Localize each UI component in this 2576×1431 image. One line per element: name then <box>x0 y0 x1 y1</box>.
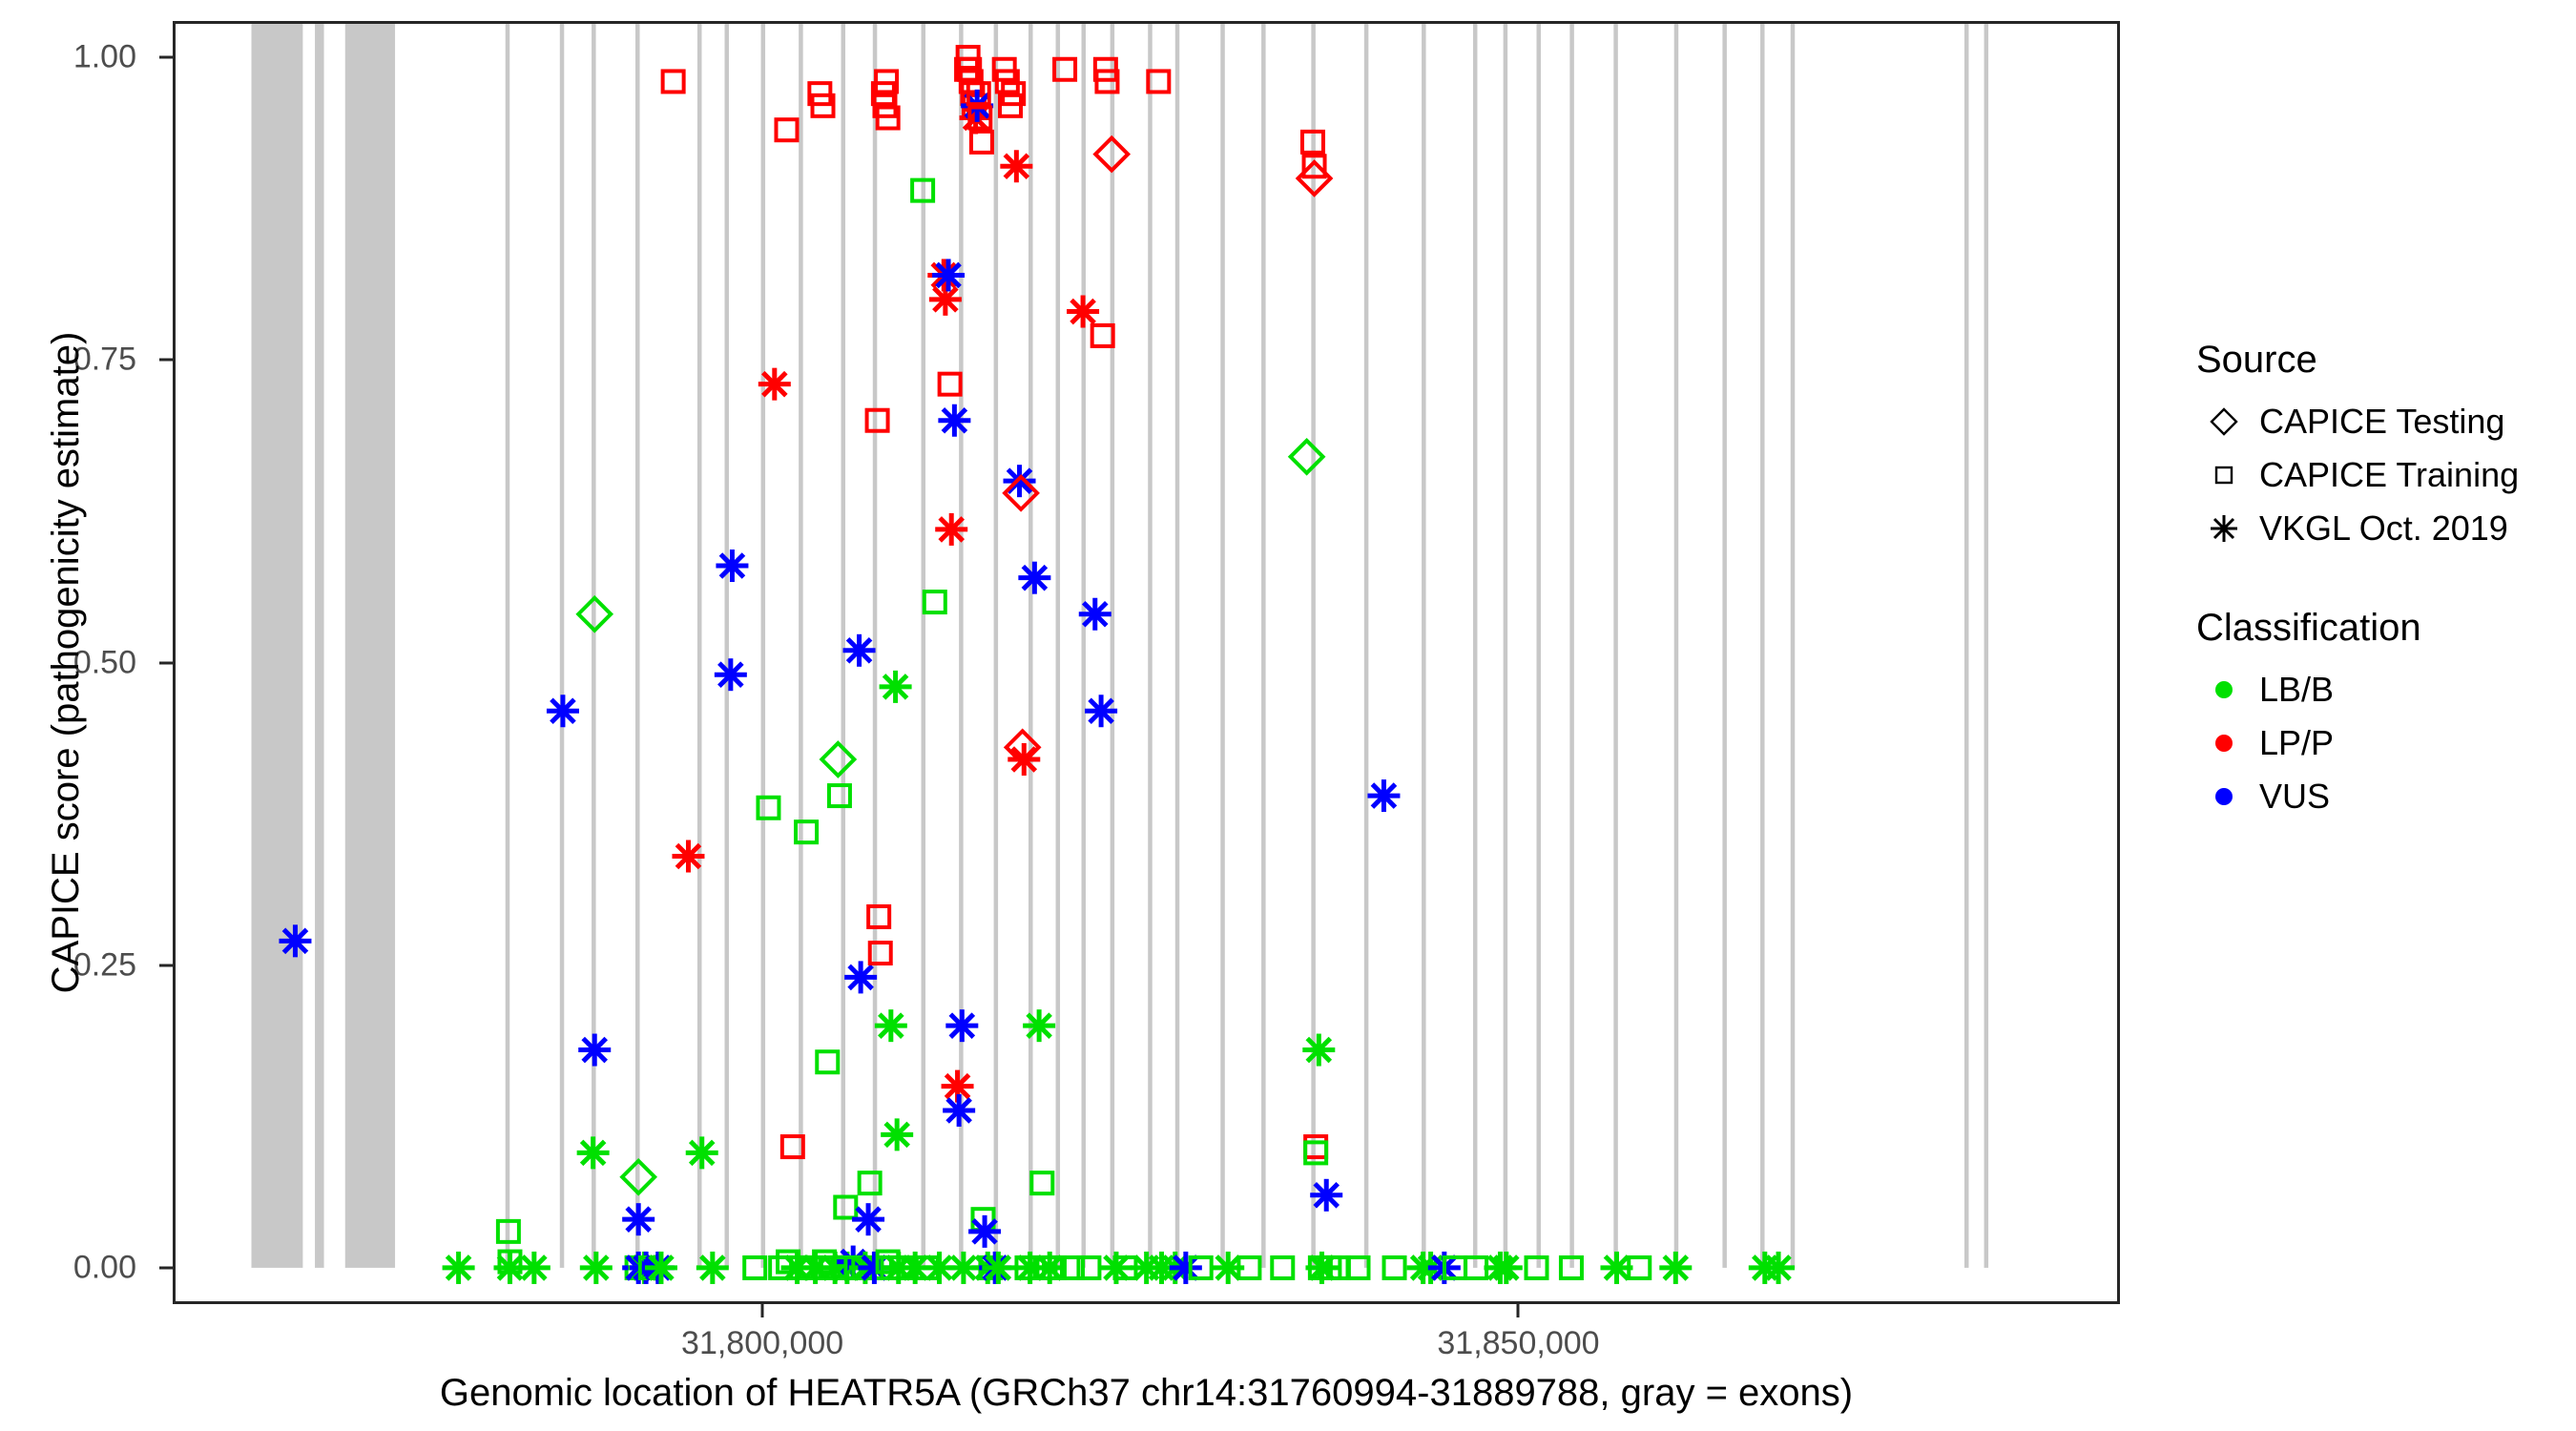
x-tick-label: 31,850,000 <box>1437 1325 1599 1362</box>
exon-bar <box>251 21 302 1268</box>
data-point <box>971 132 992 153</box>
data-point <box>580 1252 613 1284</box>
exon-bar <box>873 21 878 1268</box>
data-point <box>696 1252 729 1284</box>
legend: Source CAPICE Testing CAPICE Training <box>2196 339 2576 875</box>
data-point <box>1384 1257 1405 1278</box>
data-point <box>938 404 970 437</box>
data-point <box>1310 1179 1342 1212</box>
x-tick-mark <box>1517 1304 1520 1317</box>
data-point <box>1305 1142 1326 1163</box>
exon-bar <box>1082 21 1087 1268</box>
data-point <box>867 410 888 431</box>
diamond-icon <box>2196 403 2252 441</box>
data-point <box>835 1196 856 1217</box>
exon-bar <box>592 21 596 1268</box>
exon-bar <box>635 21 640 1268</box>
legend-item-vkgl[interactable]: VKGL Oct. 2019 <box>2196 502 2576 555</box>
exon-bar <box>1473 21 1478 1268</box>
exon-bar <box>725 21 730 1268</box>
legend-label-vus: VUS <box>2259 777 2330 817</box>
data-point <box>982 1252 1014 1284</box>
legend-label-capice-training: CAPICE Training <box>2259 455 2519 495</box>
exon-bar <box>1569 21 1574 1268</box>
legend-group-source: Source CAPICE Testing CAPICE Training <box>2196 339 2576 555</box>
exon-bar <box>1111 21 1115 1268</box>
data-point <box>672 840 704 873</box>
y-tick-mark <box>159 964 173 966</box>
asterisk-icon <box>2196 509 2252 548</box>
data-point <box>547 695 579 727</box>
data-point <box>829 785 850 806</box>
x-tick-label: 31,800,000 <box>681 1325 843 1362</box>
exon-bar <box>1175 21 1180 1268</box>
exon-bar <box>506 21 510 1268</box>
data-point <box>844 961 877 993</box>
data-point <box>686 1136 718 1169</box>
data-point <box>518 1252 551 1284</box>
y-tick-mark <box>159 661 173 664</box>
exon-bar <box>994 21 999 1268</box>
exon-bar <box>1028 21 1033 1268</box>
exon-bar <box>1722 21 1727 1268</box>
data-point <box>279 924 311 957</box>
data-point <box>935 513 967 546</box>
x-axis: 31,800,00031,850,000 <box>0 1304 2576 1361</box>
legend-group-classification: Classification LB/B LP/P <box>2196 607 2576 823</box>
square-icon <box>2196 456 2252 494</box>
data-point <box>929 283 962 316</box>
data-point <box>1092 325 1113 346</box>
data-point <box>868 906 889 927</box>
data-point <box>1067 296 1099 328</box>
data-point <box>1008 743 1040 776</box>
exon-bar <box>1964 21 1969 1268</box>
data-point <box>578 1034 611 1067</box>
data-point <box>968 1215 1001 1248</box>
exon-bar <box>1536 21 1541 1268</box>
data-point <box>1302 1034 1335 1067</box>
legend-label-capice-testing: CAPICE Testing <box>2259 402 2504 442</box>
legend-item-lpp[interactable]: LP/P <box>2196 716 2576 770</box>
exon-bar <box>1148 21 1153 1268</box>
data-point <box>1000 150 1032 182</box>
data-point <box>843 634 876 667</box>
scatter-plot-svg <box>173 21 2120 1304</box>
legend-label-vkgl: VKGL Oct. 2019 <box>2259 508 2508 549</box>
exon-bar <box>1760 21 1765 1268</box>
data-point <box>758 368 791 401</box>
data-point <box>881 1118 913 1151</box>
data-point <box>945 1009 978 1042</box>
data-point <box>1018 562 1050 594</box>
data-point <box>645 1252 677 1284</box>
exon-bar <box>922 21 926 1268</box>
exon-bar <box>1220 21 1225 1268</box>
data-point <box>943 1094 975 1127</box>
legend-title-source: Source <box>2196 339 2576 382</box>
exon-bar <box>345 21 395 1268</box>
y-tick-mark <box>159 1266 173 1269</box>
data-point <box>1659 1252 1692 1284</box>
exon-bar <box>1613 21 1618 1268</box>
data-point <box>924 591 945 612</box>
data-point <box>622 1203 654 1235</box>
exon-bar <box>697 21 702 1268</box>
legend-label-lpp: LP/P <box>2259 723 2334 763</box>
exon-bar <box>1984 21 1989 1268</box>
exon-bar <box>1364 21 1369 1268</box>
legend-item-capice-testing[interactable]: CAPICE Testing <box>2196 395 2576 448</box>
data-point <box>443 1252 475 1284</box>
exon-bar <box>1674 21 1679 1268</box>
data-point <box>1079 598 1111 631</box>
data-point <box>932 259 965 291</box>
legend-item-vus[interactable]: VUS <box>2196 770 2576 823</box>
data-point <box>1085 695 1117 727</box>
data-point <box>1272 1257 1293 1278</box>
lbb-color-dot-icon <box>2196 671 2252 709</box>
chart-figure: 0.000.250.500.751.00 CAPICE score (patho… <box>0 0 2576 1431</box>
x-tick-mark <box>761 1304 764 1317</box>
data-point <box>1031 1172 1052 1193</box>
exon-bar <box>315 21 324 1268</box>
data-point <box>716 550 748 582</box>
data-point <box>817 1051 838 1072</box>
y-axis-label: CAPICE score (pathogenicity estimate) <box>44 21 88 1304</box>
data-point <box>1305 1136 1326 1157</box>
data-point <box>852 1203 884 1235</box>
data-point <box>1023 1009 1055 1042</box>
data-point <box>715 658 747 691</box>
data-point <box>1490 1252 1523 1284</box>
data-point <box>1367 779 1400 812</box>
y-tick-mark <box>159 359 173 362</box>
exon-bar <box>761 21 766 1268</box>
plot-panel <box>173 21 2120 1304</box>
exon-bar <box>560 21 565 1268</box>
data-point <box>663 71 684 92</box>
data-point <box>1291 441 1323 473</box>
data-point <box>860 1172 881 1193</box>
lpp-color-dot-icon <box>2196 724 2252 762</box>
exon-bar <box>841 21 846 1268</box>
data-point <box>940 374 961 395</box>
exon-bar <box>1261 21 1266 1268</box>
legend-title-classification: Classification <box>2196 607 2576 650</box>
data-point <box>880 671 912 703</box>
exon-bar <box>1056 21 1061 1268</box>
data-point <box>875 1009 907 1042</box>
data-point <box>1762 1252 1795 1284</box>
exon-bar <box>1791 21 1796 1268</box>
exon-bars-layer <box>251 21 1988 1268</box>
data-point <box>577 1136 610 1169</box>
exon-bar <box>799 21 803 1268</box>
data-point <box>821 743 854 776</box>
x-axis-label: Genomic location of HEATR5A (GRCh37 chr1… <box>173 1372 2120 1415</box>
exon-bar <box>1422 21 1426 1268</box>
vus-color-dot-icon <box>2196 778 2252 816</box>
exon-bar <box>1311 21 1316 1268</box>
legend-label-lbb: LB/B <box>2259 670 2334 710</box>
legend-item-capice-training[interactable]: CAPICE Training <box>2196 448 2576 502</box>
data-point <box>776 119 797 140</box>
exon-bar <box>1504 21 1508 1268</box>
legend-item-lbb[interactable]: LB/B <box>2196 663 2576 716</box>
y-tick-mark <box>159 56 173 59</box>
